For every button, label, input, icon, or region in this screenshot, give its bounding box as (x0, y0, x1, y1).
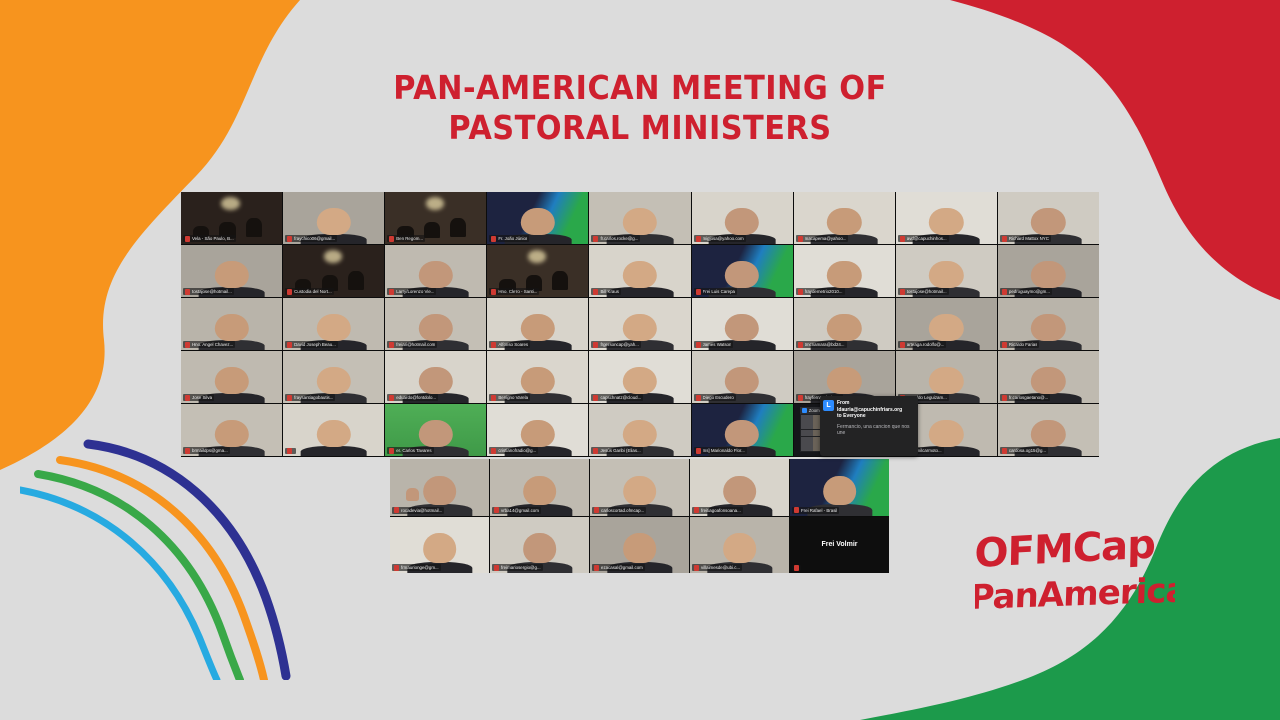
participant-silhouette-head (1031, 314, 1065, 341)
participant-name-badge: freitiagoafonsoana... (692, 507, 743, 514)
participant-tile[interactable]: Jose Silva (181, 351, 282, 403)
room-light (426, 197, 444, 209)
participant-silhouette-head (419, 420, 453, 447)
zoom-mic-muted-icon (694, 565, 699, 571)
participant-silhouette-head (214, 314, 248, 341)
participant-silhouette-head (827, 208, 861, 235)
zoom-mic-muted-icon (287, 395, 292, 401)
participant-name-badge: Ricardo Farias (1000, 341, 1040, 348)
participant-silhouette-head (623, 261, 657, 288)
participant-name-badge: migjosa@yahoo.com (694, 235, 746, 242)
participant-tile[interactable]: freitiagoafonsoana... (690, 459, 789, 516)
participant-silhouette-head (827, 314, 861, 341)
swoosh-line-orange (60, 460, 264, 680)
participant-silhouette-head (521, 208, 555, 235)
participant-tile[interactable]: Frei Rafael - Brasil (790, 459, 889, 516)
zoom-mic-muted-icon (798, 289, 803, 295)
participant-name-badge: cristianofradio@g... (489, 447, 538, 454)
chat-avatar: L (823, 400, 834, 411)
zoom-mic-muted-icon (694, 507, 699, 513)
participant-tile[interactable]: Frei Volmir (790, 517, 889, 574)
participant-tile[interactable]: eduardo@fontdolo... (385, 351, 486, 403)
participant-name-badge: macapema@yahoo... (796, 235, 849, 242)
participant-silhouette-head (521, 367, 555, 394)
participant-silhouette-head (725, 314, 759, 341)
participant-name-badge: Ben Regom... (387, 235, 425, 242)
participant-name-label: avd@capuchinhos... (907, 235, 947, 242)
participant-tile[interactable]: Frei Luis Carepa (692, 245, 793, 297)
participant-name-label: Richard Mattox NYC (1009, 235, 1049, 242)
participant-tile[interactable]: frmaurionge@gm... (390, 517, 489, 574)
participant-name-badge: Alfonso Soares (489, 341, 530, 348)
zoom-mic-muted-icon (594, 507, 599, 513)
participant-name-label: Jesús Garibi (Elias... (600, 447, 640, 454)
participant-silhouette-head (419, 314, 453, 341)
zoom-mic-muted-icon (389, 289, 394, 295)
participant-tile[interactable]: arteaga.rodolfo@... (896, 298, 997, 350)
zoom-mic-muted-icon (389, 236, 394, 242)
participant-name-badge: carloscortad.ofmcap... (592, 507, 646, 514)
ofmcap-panamerica-logo: OFMCap PanAmerica (975, 527, 1175, 622)
zoom-mic-muted-icon (1002, 342, 1007, 348)
zoom-mic-muted-icon (798, 395, 803, 401)
zoom-mic-muted-icon (185, 342, 190, 348)
participant-name-label: frgersoncap@yah... (600, 341, 638, 348)
participant-name-label: Jose Silva (192, 394, 212, 401)
participant-tile[interactable]: Diego Escudero (692, 351, 793, 403)
participant-name-badge: fraydemetrio2010... (796, 288, 845, 295)
zoom-app-icon (802, 408, 807, 413)
participant-name-label: tmcnamara@bd24... (805, 341, 845, 348)
participant-name-badge: Fr. João Júnior (489, 235, 529, 242)
participant-name-badge: tostajose@hotmail... (898, 288, 949, 295)
participant-silhouette-head (316, 367, 350, 394)
zoom-mic-muted-icon (491, 395, 496, 401)
participant-silhouette-head (523, 533, 557, 562)
participant-name-label: freitiagoafonsoana... (701, 507, 741, 514)
participant-name-label: rocadevia@hotmail... (401, 507, 442, 514)
participant-name-label: brmaildps@gma... (192, 447, 228, 454)
participant-tile[interactable]: pedroguaymo@gm... (998, 245, 1099, 297)
participant-tile[interactable]: fr.carlosgaetano@... (998, 351, 1099, 403)
participant-name-label: Frei Luis Carepa (703, 288, 735, 295)
participant-name-badge: vrba14@gmail.com (492, 507, 541, 514)
participant-name-badge: fr.carlos.rocke@g... (591, 235, 640, 242)
participant-tile[interactable]: Fr. João Júnior (487, 192, 588, 244)
participant-name-badge: Bill Kraus (591, 288, 621, 295)
zoom-mic-muted-icon (696, 448, 701, 454)
participant-name-label: Frei Rafael - Brasil (801, 507, 837, 514)
participant-tile[interactable]: Alfonso Soares (487, 298, 588, 350)
zoom-gallery-grid-lower: rocadevia@hotmail...vrba14@gmail.comcarl… (390, 459, 889, 573)
chat-to-label: to Everyone (837, 413, 866, 419)
participant-silhouette-head (316, 420, 350, 447)
participant-silhouette-head (214, 367, 248, 394)
zoom-mic-muted-icon (798, 342, 803, 348)
participant-name-label: Ricardo Farias (1009, 341, 1038, 348)
participant-silhouette-head (419, 367, 453, 394)
participant-silhouette-head (929, 420, 963, 447)
participant-name-badge: er. Carlos Tavares (387, 447, 433, 454)
swoosh-line-green (38, 474, 240, 680)
decoration-rainbow-swoosh (20, 430, 300, 680)
participant-name-badge: Frei Rafael - Brasil (792, 507, 839, 514)
participant-name-center: Frei Volmir (821, 541, 857, 548)
participant-name-label: fraychico06@gmail... (294, 235, 335, 242)
participant-silhouette-head (725, 208, 759, 235)
shared-gallery-cell (801, 430, 813, 437)
participant-name-badge: fr.carlosgaetano@... (1000, 394, 1050, 401)
participant-silhouette-head (623, 476, 657, 505)
zoom-mic-muted-icon (394, 507, 399, 513)
zoom-mic-muted-icon (593, 289, 598, 295)
participant-tile[interactable]: Ins] Marionaldo Flor... (692, 404, 793, 456)
participant-name-badge (792, 565, 801, 571)
participant-tile[interactable]: Benigno Varela (487, 351, 588, 403)
participant-name-label: arteaga.rodolfo@... (907, 341, 945, 348)
participant-silhouette-head (723, 533, 757, 562)
participant-silhouette-head (725, 420, 759, 447)
participant-name-label: ezacasal@gmail.com (601, 564, 643, 571)
participant-name-label: carloscortad.ofmcap... (601, 507, 644, 514)
participant-name-badge: cardosa.og15@g... (1000, 447, 1048, 454)
participant-name-badge: fraysantiagobautis... (285, 394, 335, 401)
participant-silhouette-head (214, 420, 248, 447)
participant-tile[interactable]: cardosa.og15@g... (998, 404, 1099, 456)
zoom-mic-muted-icon (185, 289, 190, 295)
zoom-mic-muted-icon (593, 395, 598, 401)
participant-name-badge: Vela - São Paulo, B... (183, 235, 236, 242)
slide-title-line2: PASTORAL MINISTERS (51, 108, 1229, 148)
participant-name-label: Alfonso Soares (498, 341, 528, 348)
participant-silhouette-head (827, 261, 861, 288)
participant-name-badge (285, 448, 296, 454)
participant-name-badge: frgersoncap@yah... (591, 341, 640, 348)
participant-name-badge: Jose Silva (183, 394, 214, 401)
zoom-mic-muted-icon (900, 289, 905, 295)
participant-tile[interactable]: Jesús Garibi (Elias... (589, 404, 690, 456)
chat-from-address: ldauria@capuchinfriars.org (837, 407, 902, 413)
zoom-mic-muted-icon (696, 395, 701, 401)
participant-name-label: Larry/Lorenzo Vie... (396, 288, 434, 295)
participant-name-label: cardosa.og15@g... (1009, 447, 1046, 454)
participant-name-label: frmaurionge@gm... (401, 564, 439, 571)
zoom-mic-muted-icon (594, 565, 599, 571)
participant-silhouette-head (214, 261, 248, 288)
participant-silhouette-head (823, 476, 857, 505)
participant-name-label: villaimesde@ubi.c... (701, 564, 740, 571)
participant-name-label: David Joseph Beau... (294, 341, 336, 348)
participant-tile[interactable]: Richard Mattox NYC (998, 192, 1099, 244)
participant-name-label: fraydemetrio2010... (805, 288, 843, 295)
zoom-mic-muted-icon (491, 236, 496, 242)
participant-name-badge: capschnatz@cloud... (591, 394, 643, 401)
participant-name-label: cristianofradio@g... (498, 447, 536, 454)
participant-name-badge: eduardo@fontdolo... (387, 394, 438, 401)
participant-tile[interactable]: capschnatz@cloud... (589, 351, 690, 403)
participant-silhouette-head (929, 314, 963, 341)
participant-tile[interactable]: carloscortad.ofmcap... (590, 459, 689, 516)
zoom-mic-muted-icon (389, 342, 394, 348)
participant-silhouette-head (523, 476, 557, 505)
zoom-mic-muted-icon (794, 565, 799, 571)
participant-silhouette-body (300, 446, 367, 456)
room-figure (348, 271, 364, 290)
zoom-mic-muted-icon (794, 507, 799, 513)
participant-name-label: Hno. Cleто - Santi... (498, 288, 537, 295)
participant-tile[interactable]: frgersoncap@yah... (589, 298, 690, 350)
participant-silhouette-head (1031, 420, 1065, 447)
zoom-gallery-main: Vela - São Paulo, B...fraychico06@gmail.… (181, 192, 1099, 457)
participant-tile[interactable]: David Joseph Beau... (283, 298, 384, 350)
participant-name-label: freiari@hotmail.com (396, 341, 435, 348)
participant-name-label: macapema@yahoo... (805, 235, 847, 242)
slide-canvas: PAN-AMERICAN MEETING OF PASTORAL MINISTE… (0, 0, 1280, 720)
participant-name-label: Ben Regom... (396, 235, 423, 242)
zoom-mic-muted-icon (287, 289, 292, 295)
zoom-mic-muted-icon (696, 236, 701, 242)
participant-silhouette-head (929, 367, 963, 394)
participant-silhouette-head (623, 314, 657, 341)
participant-silhouette-head (419, 261, 453, 288)
participant-silhouette-head (725, 367, 759, 394)
zoom-mic-muted-icon (389, 395, 394, 401)
zoom-mic-muted-icon (491, 448, 496, 454)
participant-silhouette-head (423, 533, 457, 562)
participant-tile[interactable]: rocadevia@hotmail... (390, 459, 489, 516)
zoom-mic-muted-icon (389, 448, 394, 454)
room-figure (424, 222, 440, 238)
participant-name-label: Bill Kraus (600, 288, 619, 295)
participant-silhouette-head (723, 476, 757, 505)
swoosh-line-indigo (88, 444, 286, 676)
participant-name-badge: Ins] Marionaldo Flor... (694, 447, 747, 454)
participant-name-badge: rocadevia@hotmail... (392, 507, 444, 514)
participant-tile[interactable]: Hno. Angel Chavez... (181, 298, 282, 350)
slide-title: PAN-AMERICAN MEETING OF PASTORAL MINISTE… (51, 68, 1229, 148)
participant-silhouette-head (316, 208, 350, 235)
participant-name-label: Benigno Varela (498, 394, 528, 401)
logo-line-1: OFMCap (975, 527, 1155, 577)
shared-gallery-cell (801, 422, 813, 429)
zoom-mic-muted-icon (900, 236, 905, 242)
zoom-mic-muted-icon (491, 289, 496, 295)
participant-tile[interactable]: James Watson (692, 298, 793, 350)
zoom-mic-muted-icon (593, 236, 598, 242)
participant-silhouette-head (725, 261, 759, 288)
participant-name-badge: Diego Escudero (694, 394, 736, 401)
participant-tile[interactable]: fraychico06@gmail... (283, 192, 384, 244)
swoosh-line-lightblue (20, 490, 217, 680)
participant-silhouette-head (929, 208, 963, 235)
zoom-gallery-grid: Vela - São Paulo, B...fraychico06@gmail.… (181, 192, 1099, 457)
room-light (221, 197, 239, 209)
shared-gallery-cell (801, 437, 813, 444)
zoom-mic-muted-icon (494, 565, 499, 571)
participant-name-label: Fr. João Júnior (498, 235, 527, 242)
logo-line-2: PanAmerica (975, 570, 1175, 618)
participant-name-label: eduardo@fontdolo... (396, 394, 436, 401)
participant-name-badge: freimariosergio@g... (492, 564, 543, 571)
participant-tile[interactable]: brmaildps@gma... (181, 404, 282, 456)
participant-tile[interactable]: tostajose@hotmail... (896, 245, 997, 297)
participant-name-badge: villaimesde@ubi.c... (692, 564, 742, 571)
zoom-mic-muted-icon (798, 236, 803, 242)
zoom-mic-muted-icon (287, 448, 292, 454)
participant-name-label: Ins] Marionaldo Flor... (703, 447, 745, 454)
participant-silhouette-head (827, 367, 861, 394)
zoom-mic-muted-icon (494, 507, 499, 513)
participant-name-badge: Larry/Lorenzo Vie... (387, 288, 436, 295)
participant-tile[interactable]: Vela - São Paulo, B... (181, 192, 282, 244)
participant-silhouette-head (521, 314, 555, 341)
participant-tile[interactable] (283, 404, 384, 456)
participant-tile[interactable]: fraysantiagobautis... (283, 351, 384, 403)
participant-tile[interactable]: fr.carlos.rocke@g... (589, 192, 690, 244)
participant-name-badge: arteaga.rodolfo@... (898, 341, 947, 348)
participant-silhouette-head (623, 367, 657, 394)
shared-gallery-cell (801, 415, 813, 422)
zoom-mic-muted-icon (185, 236, 190, 242)
participant-name-badge: Richard Mattox NYC (1000, 235, 1051, 242)
room-figure (552, 271, 568, 290)
participant-tile[interactable]: Custodia del Nort... (283, 245, 384, 297)
participant-tile[interactable]: Bill Kraus (589, 245, 690, 297)
zoom-mic-muted-icon (1002, 395, 1007, 401)
participant-tile[interactable]: Hno. Cleто - Santi... (487, 245, 588, 297)
participant-silhouette-head (423, 476, 457, 505)
participant-name-label: pedroguaymo@gm... (1009, 288, 1050, 295)
participant-tile[interactable]: ezacasal@gmail.com (590, 517, 689, 574)
participant-name-badge: James Watson (694, 341, 734, 348)
zoom-mic-muted-icon (491, 342, 496, 348)
zoom-mic-muted-icon (593, 342, 598, 348)
participant-name-label: fr.carlosgaetano@... (1009, 394, 1048, 401)
participant-name-label: freimariosergio@g... (501, 564, 541, 571)
participant-name-label: James Watson (703, 341, 732, 348)
participant-silhouette-head (1031, 367, 1065, 394)
raised-hand (406, 488, 419, 500)
zoom-chat-notification[interactable]: L From ldauria@capuchinfriars.org to Eve… (820, 396, 918, 456)
participant-name-label: Hno. Angel Chavez... (192, 341, 233, 348)
participant-name-badge: Jesús Garibi (Elias... (591, 447, 642, 454)
participant-name-badge: ezacasal@gmail.com (592, 564, 645, 571)
zoom-mic-muted-icon (287, 342, 292, 348)
participant-tile[interactable]: macapema@yahoo... (794, 192, 895, 244)
participant-silhouette-head (623, 533, 657, 562)
participant-name-label: Diego Escudero (703, 394, 734, 401)
participant-silhouette-head (929, 261, 963, 288)
zoom-mic-muted-icon (1002, 448, 1007, 454)
room-light (324, 250, 342, 262)
participant-name-label: tostajose@hotmail... (192, 288, 232, 295)
participant-name-badge: avd@capuchinhos... (898, 235, 949, 242)
participant-name-badge: freiari@hotmail.com (387, 341, 437, 348)
zoom-mic-muted-icon (593, 448, 598, 454)
participant-name-badge: tostajose@hotmail... (183, 288, 234, 295)
participant-tile[interactable]: vrba14@gmail.com (490, 459, 589, 516)
zoom-gallery-lower: rocadevia@hotmail...vrba14@gmail.comcarl… (390, 459, 889, 573)
participant-silhouette-head (316, 314, 350, 341)
chat-message-text: Fermancio, una cancion que nos une (837, 424, 915, 437)
participant-name-label: Vela - São Paulo, B... (192, 235, 234, 242)
participant-tile[interactable]: villaimesde@ubi.c... (690, 517, 789, 574)
room-light (528, 250, 546, 262)
zoom-mic-muted-icon (696, 342, 701, 348)
participant-silhouette-head (521, 420, 555, 447)
participant-tile[interactable]: fraydemetrio2010... (794, 245, 895, 297)
zoom-mic-muted-icon (696, 289, 701, 295)
participant-name-label: fraysantiagobautis... (294, 394, 333, 401)
participant-name-badge: David Joseph Beau... (285, 341, 338, 348)
participant-name-badge: Benigno Varela (489, 394, 530, 401)
participant-name-badge: Hno. Cleто - Santi... (489, 288, 539, 295)
participant-name-badge: frmaurionge@gm... (392, 564, 441, 571)
zoom-mic-muted-icon (1002, 289, 1007, 295)
participant-name-label: er. Carlos Tavares (396, 447, 431, 454)
shared-gallery-cell (801, 444, 813, 451)
room-figure (246, 218, 262, 237)
zoom-mic-muted-icon (185, 448, 190, 454)
room-figure (450, 218, 466, 237)
participant-silhouette-head (1031, 261, 1065, 288)
participant-tile[interactable]: Larry/Lorenzo Vie... (385, 245, 486, 297)
participant-name-badge: Custodia del Nort... (285, 288, 334, 295)
participant-tile[interactable]: Ben Regom... (385, 192, 486, 244)
participant-silhouette-head (623, 420, 657, 447)
participant-tile[interactable]: er. Carlos Tavares (385, 404, 486, 456)
participant-tile[interactable]: tmcnamara@bd24... (794, 298, 895, 350)
participant-name-label: tostajose@hotmail... (907, 288, 947, 295)
participant-name-badge: pedroguaymo@gm... (1000, 288, 1052, 295)
participant-name-label: migjosa@yahoo.com (703, 235, 744, 242)
participant-name-badge: Hno. Angel Chavez... (183, 341, 235, 348)
zoom-mic-muted-icon (900, 342, 905, 348)
participant-name-label: capschnatz@cloud... (600, 394, 641, 401)
slide-title-line1: PAN-AMERICAN MEETING OF (393, 68, 887, 107)
zoom-mic-muted-icon (1002, 236, 1007, 242)
participant-name-badge: tmcnamara@bd24... (796, 341, 847, 348)
participant-tile[interactable]: migjosa@yahoo.com (692, 192, 793, 244)
participant-tile[interactable]: cristianofradio@g... (487, 404, 588, 456)
chat-from-label: From (837, 400, 850, 406)
zoom-mic-muted-icon (185, 395, 190, 401)
participant-tile[interactable]: freiari@hotmail.com (385, 298, 486, 350)
participant-name-badge: fraychico06@gmail... (285, 235, 337, 242)
participant-tile[interactable]: tostajose@hotmail... (181, 245, 282, 297)
participant-silhouette-head (623, 208, 657, 235)
zoom-mic-muted-icon (394, 565, 399, 571)
participant-tile[interactable]: avd@capuchinhos... (896, 192, 997, 244)
participant-name-label: fr.carlos.rocke@g... (600, 235, 638, 242)
participant-name-badge: brmaildps@gma... (183, 447, 230, 454)
participant-tile[interactable]: freimariosergio@g... (490, 517, 589, 574)
participant-tile[interactable]: Ricardo Farias (998, 298, 1099, 350)
zoom-mic-muted-icon (287, 236, 292, 242)
participant-silhouette-head (1031, 208, 1065, 235)
participant-name-label: vrba14@gmail.com (501, 507, 539, 514)
participant-name-badge: Frei Luis Carepa (694, 288, 737, 295)
participant-name-label: Custodia del Nort... (294, 288, 332, 295)
